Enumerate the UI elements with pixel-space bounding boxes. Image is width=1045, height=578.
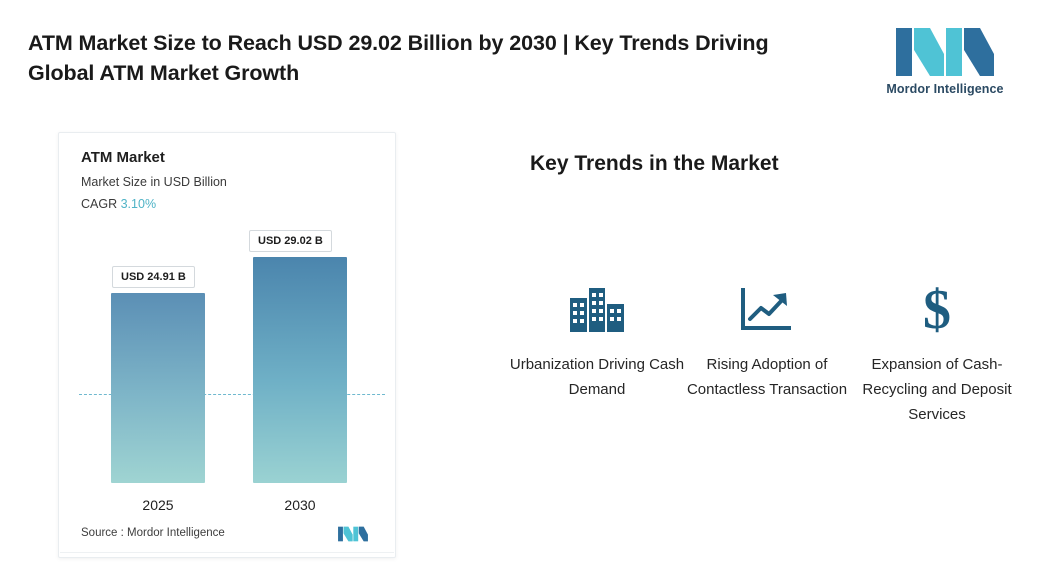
city-buildings-icon <box>502 280 692 338</box>
bar-chart-plot: USD 24.91 B USD 29.02 B 2025 2030 <box>59 229 395 529</box>
trend-caption: Expansion of Cash-Recycling and Deposit … <box>842 352 1032 427</box>
trend-item-cash-recycling: $ Expansion of Cash-Recycling and Deposi… <box>842 280 1032 427</box>
trend-caption: Rising Adoption of Contactless Transacti… <box>672 352 862 402</box>
x-axis-label-2030: 2030 <box>253 497 347 513</box>
growth-chart-arrow-icon <box>672 280 862 338</box>
mordor-mark-icon <box>335 523 371 545</box>
chart-cagr: CAGR 3.10% <box>81 197 156 211</box>
card-footer-divider <box>60 552 394 557</box>
dollar-sign-icon: $ <box>842 280 1032 338</box>
chart-title: ATM Market <box>81 149 165 166</box>
chart-source-label: Source : <box>81 527 124 539</box>
svg-text:$: $ <box>923 281 951 337</box>
bar-label-2030: USD 29.02 B <box>249 230 332 252</box>
trend-caption: Urbanization Driving Cash Demand <box>502 352 692 402</box>
chart-source: Source : Mordor Intelligence <box>81 527 225 539</box>
chart-subtitle: Market Size in USD Billion <box>81 175 227 189</box>
x-axis-label-2025: 2025 <box>111 497 205 513</box>
chart-card: ATM Market Market Size in USD Billion CA… <box>58 132 396 558</box>
chart-source-value: Mordor Intelligence <box>127 527 225 539</box>
bar-label-2025: USD 24.91 B <box>112 266 195 288</box>
page-title: ATM Market Size to Reach USD 29.02 Billi… <box>28 28 818 88</box>
trends-heading: Key Trends in the Market <box>530 152 850 176</box>
trend-item-contactless: Rising Adoption of Contactless Transacti… <box>672 280 862 402</box>
chart-cagr-label: CAGR <box>81 197 117 211</box>
mordor-intelligence-logo-icon <box>886 24 1004 80</box>
page-header: ATM Market Size to Reach USD 29.02 Billi… <box>0 0 1045 120</box>
bar-2030 <box>253 257 347 483</box>
brand-logo: Mordor Intelligence <box>880 24 1020 102</box>
brand-logo-text: Mordor Intelligence <box>880 82 1010 96</box>
trend-item-urbanization: Urbanization Driving Cash Demand <box>502 280 692 402</box>
bar-2025 <box>111 293 205 483</box>
chart-cagr-value: 3.10% <box>121 197 156 211</box>
